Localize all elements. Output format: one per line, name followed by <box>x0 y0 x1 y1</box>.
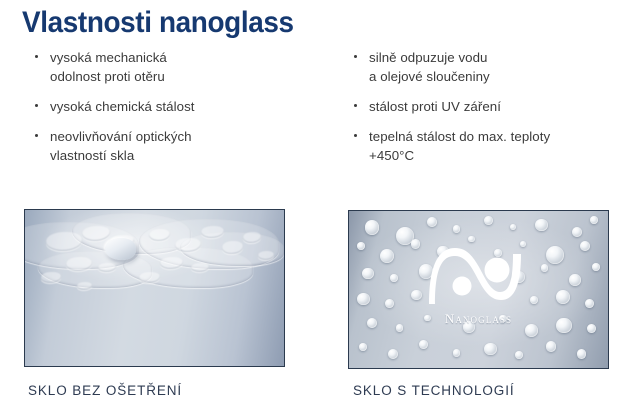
bullet-dot-icon <box>354 55 357 58</box>
slide-root: Vlastnosti nanoglass vysoká mechanická o… <box>0 0 637 412</box>
list-item: neovlivňování optických vlastností skla <box>33 127 333 165</box>
feature-list-right: silně odpuzuje vodu a olejové sloučeniny… <box>352 48 627 165</box>
list-item: vysoká mechanická odolnost proti otěru <box>33 48 333 86</box>
treated-glass-photo: Nanoglass <box>348 210 609 369</box>
feature-text: tepelná stálost do max. teploty +450°C <box>369 127 627 165</box>
feature-list-left: vysoká mechanická odolnost proti otěru v… <box>33 48 333 165</box>
feature-column-left: vysoká mechanická odolnost proti otěru v… <box>33 48 333 176</box>
nanoglass-logo: Nanoglass <box>418 248 540 327</box>
feature-text: neovlivňování optických vlastností skla <box>50 127 333 165</box>
treated-glass-surface: Nanoglass <box>349 211 608 368</box>
list-item: stálost proti UV záření <box>352 97 627 116</box>
page-title: Vlastnosti nanoglass <box>22 6 294 40</box>
caption-treated: SKLO S TECHNOLOGIÍ <box>353 383 515 398</box>
nanoglass-wordmark: Nanoglass <box>418 311 540 327</box>
list-item: vysoká chemická stálost <box>33 97 333 116</box>
bullet-dot-icon <box>354 134 357 137</box>
feature-text: silně odpuzuje vodu a olejové sloučeniny <box>369 48 627 86</box>
bullet-dot-icon <box>35 55 38 58</box>
bullet-dot-icon <box>35 134 38 137</box>
untreated-glass-photo <box>24 209 285 367</box>
list-item: tepelná stálost do max. teploty +450°C <box>352 127 627 165</box>
caption-untreated: SKLO BEZ OŠETŘENÍ <box>28 383 182 398</box>
list-item: silně odpuzuje vodu a olejové sloučeniny <box>352 48 627 86</box>
feature-text: vysoká chemická stálost <box>50 97 333 116</box>
feature-text: stálost proti UV záření <box>369 97 627 116</box>
feature-column-right: silně odpuzuje vodu a olejové sloučeniny… <box>352 48 627 176</box>
bullet-dot-icon <box>354 104 357 107</box>
bullet-dot-icon <box>35 104 38 107</box>
feature-text: vysoká mechanická odolnost proti otěru <box>50 48 333 86</box>
features-section: vysoká mechanická odolnost proti otěru v… <box>0 48 637 188</box>
untreated-glass-surface <box>25 210 284 366</box>
water-droplet <box>105 238 136 260</box>
nanoglass-swoosh-icon <box>429 248 529 310</box>
